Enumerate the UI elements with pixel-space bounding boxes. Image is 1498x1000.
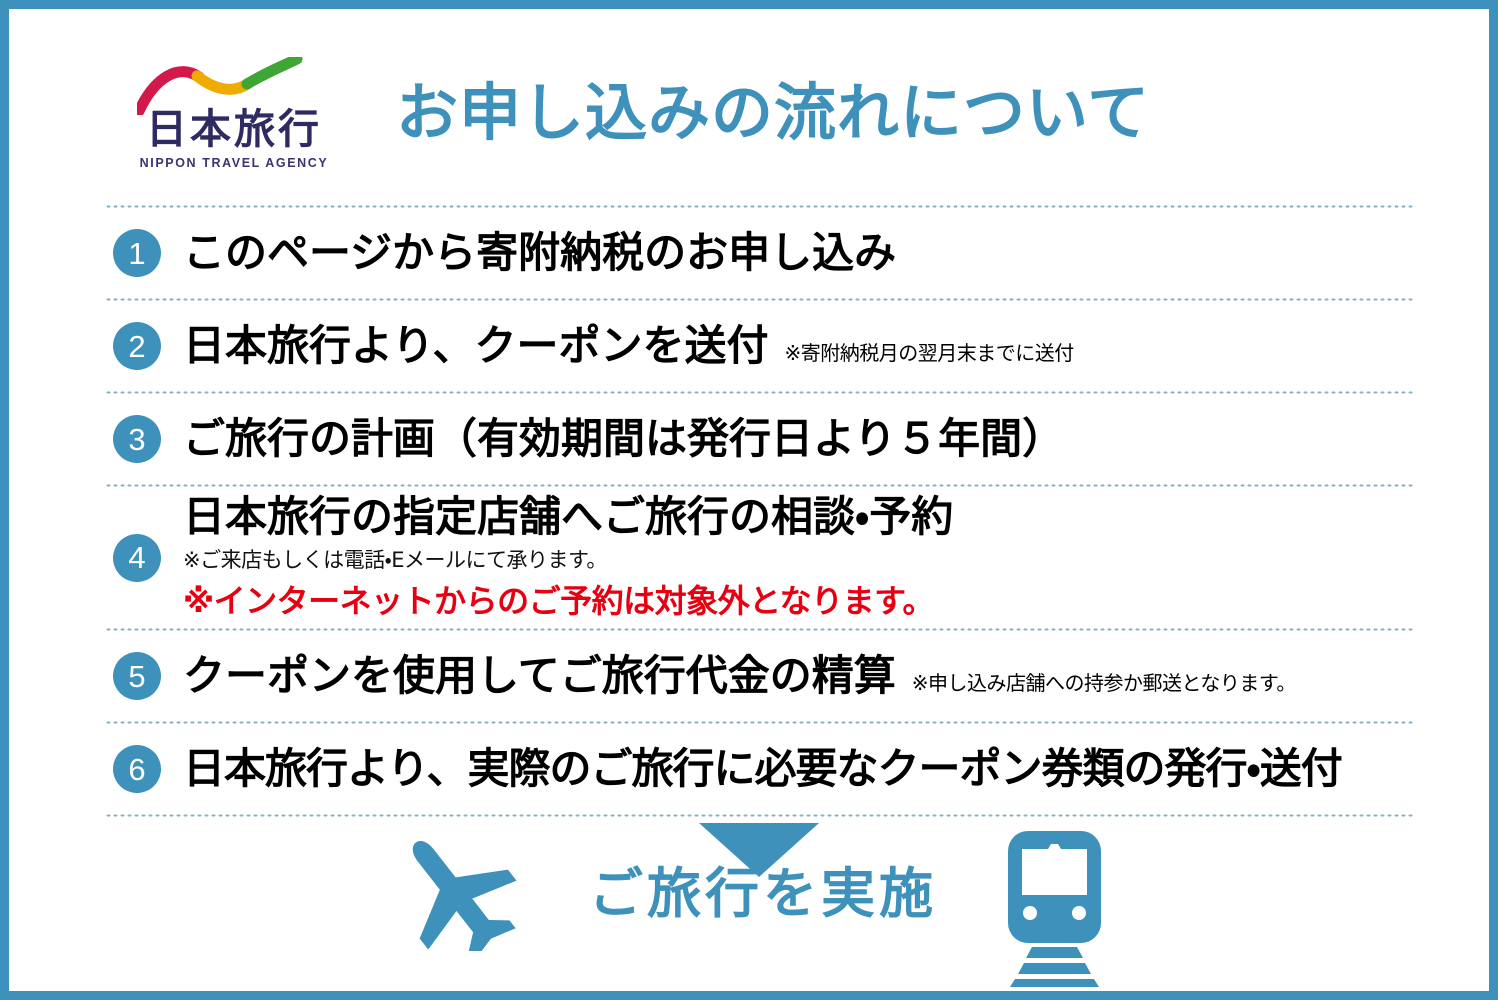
step-body: 日本旅行より、クーポンを送付 ※寄附納税月の翌月末までに送付 bbox=[183, 322, 1415, 369]
logo-japanese-text: 日本旅行 bbox=[146, 109, 322, 150]
infographic-page: 日本旅行 NIPPON TRAVEL AGENCY お申し込みの流れについて 1… bbox=[0, 0, 1498, 1000]
divider-dotted bbox=[105, 298, 1415, 301]
step-body: クーポンを使用してご旅行代金の精算 ※申し込み店舗への持参か郵送となります。 bbox=[183, 652, 1415, 699]
step-main-line: クーポンを使用してご旅行代金の精算 ※申し込み店舗への持参か郵送となります。 bbox=[183, 652, 1415, 699]
step-number-badge: 3 bbox=[113, 415, 161, 463]
brand-logo: 日本旅行 NIPPON TRAVEL AGENCY bbox=[84, 57, 384, 170]
step-body: 日本旅行の指定店舗へご旅行の相談・予約 ※ご来店もしくは電話・Eメールにて承りま… bbox=[183, 493, 1415, 621]
divider-dotted bbox=[105, 205, 1415, 208]
step-title: ご旅行の計画（有効期間は発行日より５年間） bbox=[183, 415, 1064, 462]
step-body: ご旅行の計画（有効期間は発行日より５年間） bbox=[183, 415, 1415, 462]
page-header: 日本旅行 NIPPON TRAVEL AGENCY お申し込みの流れについて bbox=[9, 33, 1489, 193]
train-icon bbox=[1002, 827, 1107, 987]
step-number-badge: 5 bbox=[113, 652, 161, 700]
step-main-line: ご旅行の計画（有効期間は発行日より５年間） bbox=[183, 415, 1415, 462]
step-main-line: 日本旅行より、実際のご旅行に必要なクーポン券類の発行・送付 bbox=[183, 745, 1415, 792]
footer-label: ご旅行を実施 bbox=[589, 867, 937, 921]
divider-dotted bbox=[105, 391, 1415, 394]
step-title: 日本旅行より、実際のご旅行に必要なクーポン券類の発行・送付 bbox=[183, 745, 1342, 792]
step-number-badge: 2 bbox=[113, 322, 161, 370]
divider-dotted bbox=[105, 721, 1415, 724]
divider-dotted bbox=[105, 628, 1415, 631]
step-note: ※寄附納税月の翌月末までに送付 bbox=[784, 337, 1073, 366]
step-warning-note: ※インターネットからのご予約は対象外となります。 bbox=[183, 576, 1415, 622]
step-number-badge: 6 bbox=[113, 745, 161, 793]
step-main-line: 日本旅行より、クーポンを送付 ※寄附納税月の翌月末までに送付 bbox=[183, 322, 1415, 369]
step-main-line: このページから寄附納税のお申し込み bbox=[183, 229, 1415, 276]
step-title: このページから寄附納税のお申し込み bbox=[183, 229, 896, 276]
step-row: 1 このページから寄附納税のお申し込み bbox=[105, 208, 1415, 298]
step-title: 日本旅行より、クーポンを送付 bbox=[183, 322, 768, 369]
step-body: 日本旅行より、実際のご旅行に必要なクーポン券類の発行・送付 bbox=[183, 745, 1415, 792]
divider-dotted bbox=[105, 484, 1415, 487]
step-row: 3 ご旅行の計画（有効期間は発行日より５年間） bbox=[105, 394, 1415, 484]
page-title: お申し込みの流れについて bbox=[396, 82, 1150, 144]
step-number-badge: 1 bbox=[113, 229, 161, 277]
steps-list: 1 このページから寄附納税のお申し込み 2 日本旅行より、クーポンを送付 ※寄附… bbox=[105, 205, 1415, 817]
step-row: 2 日本旅行より、クーポンを送付 ※寄附納税月の翌月末までに送付 bbox=[105, 301, 1415, 391]
step-body: このページから寄附納税のお申し込み bbox=[183, 229, 1415, 276]
step-sub-note: ※ご来店もしくは電話・Eメールにて承ります。 bbox=[183, 544, 1415, 574]
step-note: ※申し込み店舗への持参か郵送となります。 bbox=[912, 667, 1296, 696]
step-row: 5 クーポンを使用してご旅行代金の精算 ※申し込み店舗への持参か郵送となります。 bbox=[105, 631, 1415, 721]
step-number-badge: 4 bbox=[113, 534, 161, 582]
step-row: 6 日本旅行より、実際のご旅行に必要なクーポン券類の発行・送付 bbox=[105, 724, 1415, 814]
step-main-line: 日本旅行の指定店舗へご旅行の相談・予約 bbox=[183, 493, 1415, 540]
step-row: 4 日本旅行の指定店舗へご旅行の相談・予約 ※ご来店もしくは電話・Eメールにて承… bbox=[105, 487, 1415, 628]
step-title: クーポンを使用してご旅行代金の精算 bbox=[183, 652, 896, 699]
step-title: 日本旅行の指定店舗へご旅行の相談・予約 bbox=[183, 493, 953, 540]
airplane-icon bbox=[381, 821, 531, 951]
logo-english-text: NIPPON TRAVEL AGENCY bbox=[140, 156, 329, 170]
